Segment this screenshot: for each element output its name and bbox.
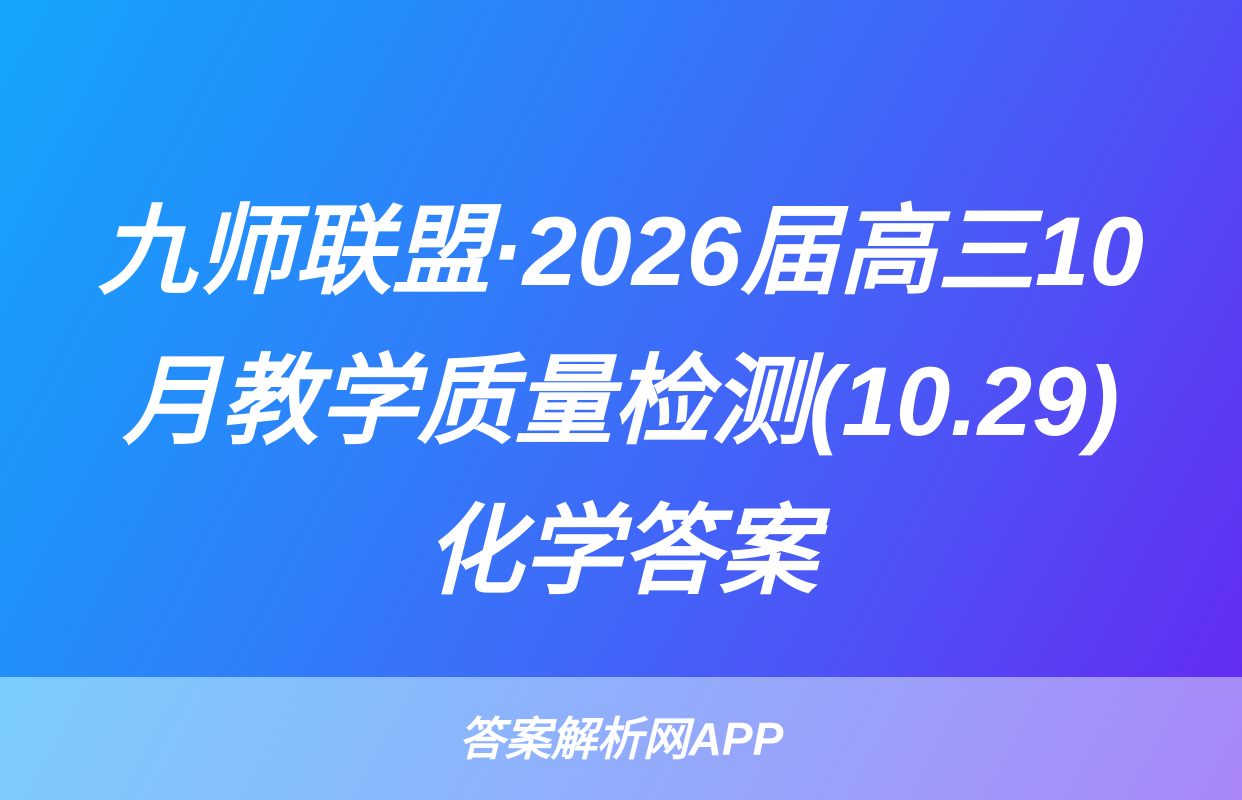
answer-cover-card: 九师联盟·2026届高三10 月教学质量检测(10.29) 化学答案 答案解析网… <box>0 0 1242 800</box>
watermark-app-label: 答案解析网APP <box>459 716 784 762</box>
page-title: 九师联盟·2026届高三10 月教学质量检测(10.29) 化学答案 <box>0 176 1242 626</box>
title-line-1: 九师联盟·2026届高三10 <box>40 176 1202 326</box>
title-line-2: 月教学质量检测(10.29) <box>40 326 1202 476</box>
watermark-band: 答案解析网APP <box>0 677 1242 800</box>
title-line-3: 化学答案 <box>40 476 1202 626</box>
